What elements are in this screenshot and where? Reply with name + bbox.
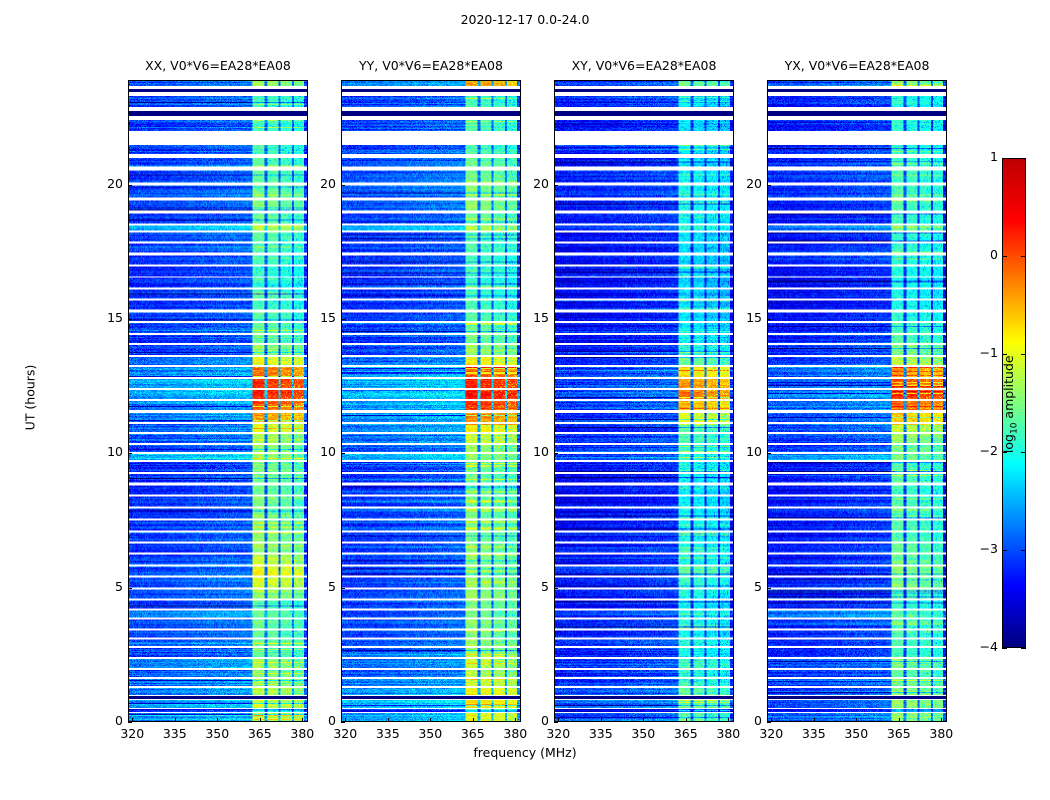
colorbar-tick-mark [1002, 256, 1007, 257]
x-tick-mark [473, 718, 474, 722]
x-tick-mark [941, 718, 942, 722]
y-tick-mark [554, 453, 558, 454]
colorbar-tick-mark [1021, 158, 1026, 159]
y-tick-label: 0 [509, 713, 549, 728]
x-tick-mark [260, 718, 261, 722]
y-tick-label: 15 [722, 310, 762, 325]
panel-title-xy: XY, V0*V6=EA28*EA08 [554, 58, 734, 73]
y-tick-mark [767, 319, 771, 320]
x-tick-mark [601, 718, 602, 722]
colorbar-tick-mark [1002, 550, 1007, 551]
y-tick-label: 20 [722, 176, 762, 191]
x-axis-label: frequency (MHz) [0, 745, 1050, 760]
colorbar-tick-mark [1002, 648, 1007, 649]
y-tick-label: 15 [509, 310, 549, 325]
y-tick-mark [128, 453, 132, 454]
y-tick-mark [128, 588, 132, 589]
y-tick-label: 5 [83, 579, 123, 594]
x-tick-mark [132, 718, 133, 722]
y-tick-mark [554, 185, 558, 186]
y-tick-mark [767, 722, 771, 723]
colorbar-tick-mark [1021, 550, 1026, 551]
y-tick-mark [341, 319, 345, 320]
y-tick-label: 20 [509, 176, 549, 191]
x-tick-mark [345, 718, 346, 722]
y-tick-mark [554, 319, 558, 320]
colorbar-tick-mark [1021, 452, 1026, 453]
colorbar-label-rest: amplitude [1001, 355, 1016, 422]
y-tick-mark [341, 588, 345, 589]
y-tick-label: 5 [296, 579, 336, 594]
colorbar-tick-mark [1021, 354, 1026, 355]
panel-title-yy: YY, V0*V6=EA28*EA08 [341, 58, 521, 73]
spectrogram-panel-xy[interactable] [554, 80, 734, 722]
y-tick-mark [554, 588, 558, 589]
x-tick-mark [217, 718, 218, 722]
y-tick-label: 5 [722, 579, 762, 594]
panel-title-yx: YX, V0*V6=EA28*EA08 [767, 58, 947, 73]
y-tick-label: 10 [296, 444, 336, 459]
spectrogram-image-xx [129, 81, 307, 721]
panel-title-xx: XX, V0*V6=EA28*EA08 [128, 58, 308, 73]
x-tick-mark [430, 718, 431, 722]
colorbar-tick-label: −1 [958, 345, 998, 360]
colorbar-label-sub: 10 [1009, 423, 1019, 434]
colorbar-tick-label: 1 [958, 149, 998, 164]
y-tick-label: 0 [83, 713, 123, 728]
spectrogram-image-xy [555, 81, 733, 721]
y-tick-label: 20 [296, 176, 336, 191]
y-tick-mark [341, 185, 345, 186]
x-tick-mark [771, 718, 772, 722]
x-tick-mark [856, 718, 857, 722]
y-tick-label: 0 [722, 713, 762, 728]
figure-suptitle: 2020-12-17 0.0-24.0 [0, 12, 1050, 27]
y-tick-label: 15 [296, 310, 336, 325]
colorbar-tick-label: −4 [958, 639, 998, 654]
y-tick-label: 10 [509, 444, 549, 459]
y-tick-mark [128, 319, 132, 320]
x-tick-mark [175, 718, 176, 722]
colorbar-label: log10 amplitude [1001, 299, 1020, 509]
y-tick-mark [128, 722, 132, 723]
colorbar-tick-label: 0 [958, 247, 998, 262]
y-tick-mark [128, 185, 132, 186]
y-tick-mark [341, 453, 345, 454]
y-tick-label: 20 [83, 176, 123, 191]
y-axis-label: UT (hours) [23, 328, 38, 468]
x-tick-mark [899, 718, 900, 722]
y-tick-label: 5 [509, 579, 549, 594]
y-tick-label: 10 [83, 444, 123, 459]
y-tick-mark [767, 185, 771, 186]
x-tick-mark [814, 718, 815, 722]
y-tick-label: 0 [296, 713, 336, 728]
x-tick-mark [643, 718, 644, 722]
spectrogram-panel-xx[interactable] [128, 80, 308, 722]
colorbar-tick-mark [1021, 648, 1026, 649]
y-tick-mark [341, 722, 345, 723]
colorbar-label-base: log [1001, 434, 1016, 453]
colorbar-tick-mark [1002, 158, 1007, 159]
x-tick-mark [686, 718, 687, 722]
colorbar-tick-label: −3 [958, 541, 998, 556]
x-tick-mark [558, 718, 559, 722]
y-tick-mark [554, 722, 558, 723]
y-tick-label: 15 [83, 310, 123, 325]
colorbar-tick-label: −2 [958, 443, 998, 458]
spectrogram-panel-yx[interactable] [767, 80, 947, 722]
y-tick-mark [767, 453, 771, 454]
x-tick-mark [388, 718, 389, 722]
colorbar-tick-mark [1021, 256, 1026, 257]
spectrogram-panel-yy[interactable] [341, 80, 521, 722]
x-tick-label: 380 [911, 726, 971, 741]
y-tick-label: 10 [722, 444, 762, 459]
spectrogram-image-yy [342, 81, 520, 721]
spectrogram-image-yx [768, 81, 946, 721]
y-tick-mark [767, 588, 771, 589]
